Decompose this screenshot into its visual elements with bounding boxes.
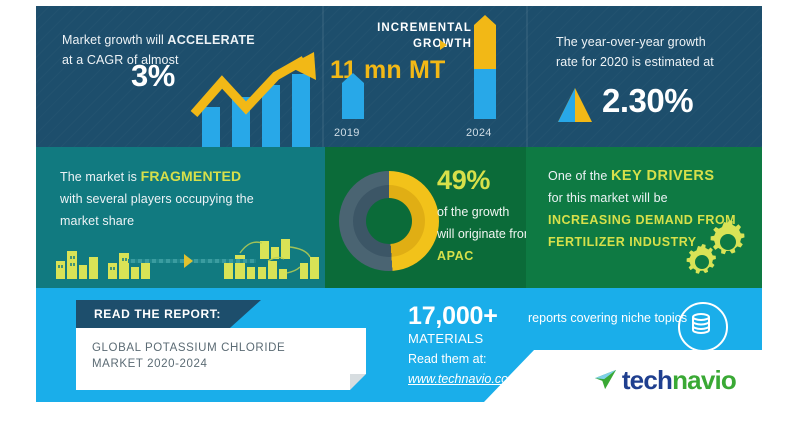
gears-icon <box>684 220 746 276</box>
drivers-line4: FERTILIZER INDUSTRY <box>548 235 697 249</box>
fragmented-line3: market share <box>60 214 134 228</box>
yoy-text: The year-over-year growth rate for 2020 … <box>556 32 756 72</box>
reports-caption: reports covering niche topics <box>528 311 687 325</box>
read-them-at-label: Read them at: <box>408 352 487 366</box>
bar-2019-shaft <box>342 83 364 119</box>
report-card[interactable]: GLOBAL POTASSIUM CHLORIDE MARKET 2020-20… <box>76 328 366 390</box>
fragmented-line2: with several players occupying the <box>60 192 254 206</box>
apac-line2: will originate from <box>437 227 534 241</box>
panel-yoy-growth: The year-over-year growth rate for 2020 … <box>526 6 762 147</box>
technavio-logo: technavio <box>594 367 736 393</box>
trend-arrow-icon <box>190 52 320 142</box>
report-title: GLOBAL POTASSIUM CHLORIDE MARKET 2020-20… <box>92 340 350 372</box>
apac-percent: 49% <box>437 165 490 196</box>
technavio-arrow-icon <box>594 369 618 391</box>
year-label-2019: 2019 <box>334 127 360 139</box>
materials-label: MATERIALS <box>408 331 483 346</box>
bar-2019-icon <box>342 73 364 119</box>
report-title-line2: MARKET 2020-2024 <box>92 358 208 370</box>
bar-2024-shaft-yellow <box>474 25 496 69</box>
panel-fragmented: The market is FRAGMENTED with several pl… <box>36 147 325 288</box>
apac-line1: of the growth <box>437 205 509 219</box>
logo-text-navio: navio <box>672 365 736 395</box>
gears-svg <box>684 220 746 276</box>
play-caret-icon <box>440 40 447 50</box>
read-the-report-tab[interactable]: READ THE REPORT: <box>76 300 261 330</box>
bar-chart-up-icon <box>196 66 318 147</box>
infographic-board: Market growth will ACCELERATE at a CAGR … <box>36 6 762 402</box>
top-row-navy: Market growth will ACCELERATE at a CAGR … <box>36 6 762 147</box>
donut-outer-ring <box>339 171 439 271</box>
donut-hole <box>366 198 412 244</box>
panel-apac: 49% of the growth will originate from AP… <box>325 147 526 288</box>
panel-cagr: Market growth will ACCELERATE at a CAGR … <box>36 6 322 147</box>
year-label-2024: 2024 <box>466 127 492 139</box>
bar-2024-head <box>474 15 496 25</box>
report-title-line1: GLOBAL POTASSIUM CHLORIDE <box>92 342 285 354</box>
bar-2019-head <box>342 73 364 83</box>
fragmented-lead: The market is <box>60 170 141 184</box>
cagr-lead: Market growth will <box>62 33 167 47</box>
reports-count: 17,000+ <box>408 302 498 331</box>
fragmented-highlight: FRAGMENTED <box>141 168 242 184</box>
logo-text-tech: tech <box>622 365 672 395</box>
cagr-accelerate: ACCELERATE <box>167 33 255 47</box>
database-icon <box>688 312 714 338</box>
drivers-lead: One of the <box>548 169 611 183</box>
panel-incremental-growth: INCREMENTAL GROWTH 11 mn MT 2019 2024 <box>322 6 526 147</box>
growth-triangle-icon <box>558 88 592 122</box>
page-fold-corner-icon <box>350 374 366 390</box>
technavio-wordmark: technavio <box>622 367 736 393</box>
bar-2024-icon <box>474 15 496 119</box>
panel-key-drivers: One of the KEY DRIVERS for this market w… <box>526 147 762 288</box>
database-circle-icon <box>678 302 728 352</box>
cagr-value: 3% <box>131 58 175 94</box>
flow-arrow-icon <box>184 254 193 268</box>
yoy-line2: rate for 2020 is estimated at <box>556 55 714 69</box>
bar-2024-shaft-blue <box>474 69 496 119</box>
fragmented-text: The market is FRAGMENTED with several pl… <box>60 165 322 232</box>
drivers-highlight: KEY DRIVERS <box>611 168 715 184</box>
yoy-value: 2.30% <box>602 82 693 120</box>
middle-row: The market is FRAGMENTED with several pl… <box>36 147 762 288</box>
drivers-line2: for this market will be <box>548 191 668 205</box>
incremental-growth-label: INCREMENTAL GROWTH <box>332 20 472 52</box>
infographic-canvas: Market growth will ACCELERATE at a CAGR … <box>0 0 800 425</box>
ig-label-line1: INCREMENTAL <box>377 22 472 34</box>
yoy-line1: The year-over-year growth <box>556 35 706 49</box>
donut-chart-icon <box>339 171 439 271</box>
apac-region: APAC <box>437 249 474 263</box>
bottom-row-blue: READ THE REPORT: GLOBAL POTASSIUM CHLORI… <box>36 288 762 402</box>
read-the-report-label: READ THE REPORT: <box>94 307 221 321</box>
donut-inner-ring <box>353 185 425 257</box>
